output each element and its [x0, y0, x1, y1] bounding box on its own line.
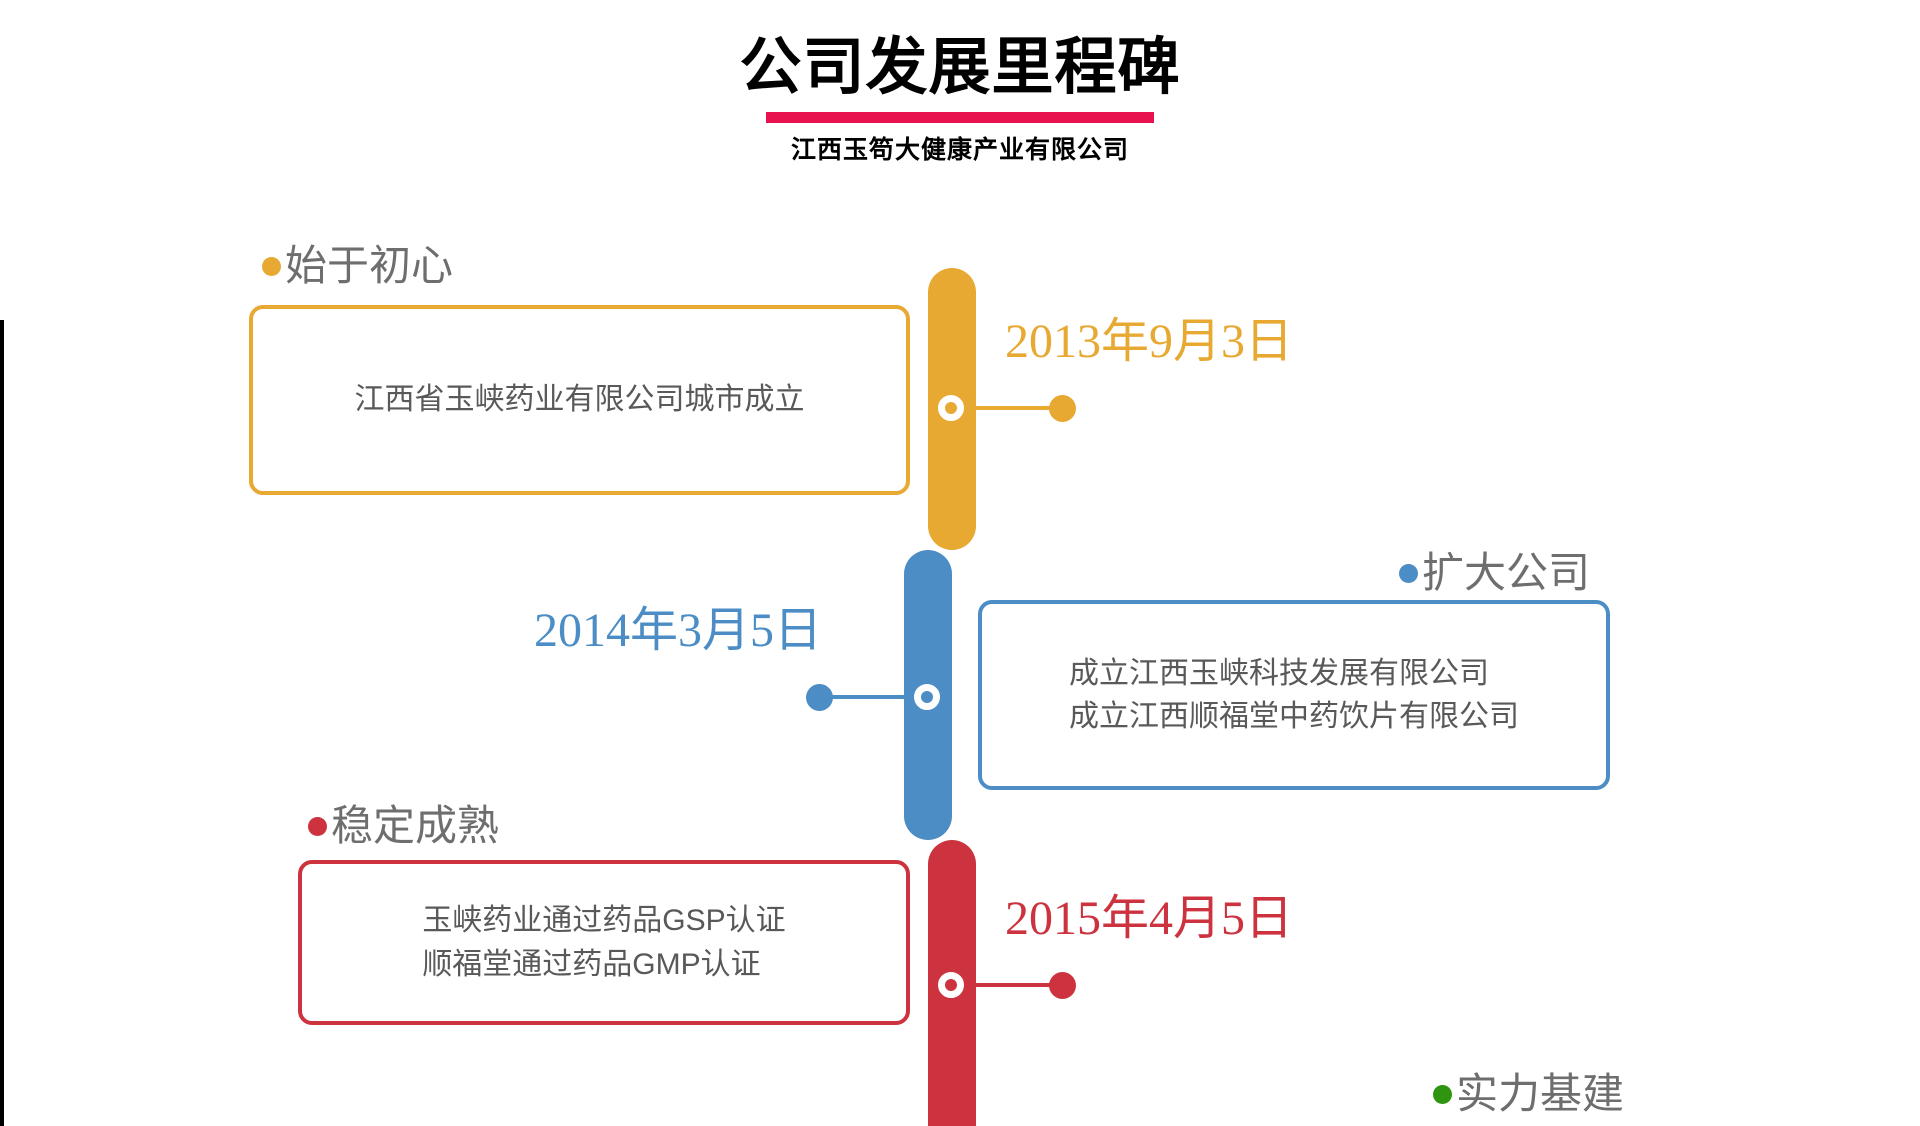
dot-icon: [1399, 564, 1418, 583]
dot-icon: [308, 817, 327, 836]
milestone-heading-label-2: 扩大公司: [1422, 552, 1590, 594]
milestone-card-line: 成立江西玉峡科技发展有限公司: [1069, 652, 1519, 696]
title-underline-rule: [766, 112, 1154, 123]
dot-icon: [1433, 1085, 1452, 1104]
milestone-card-line: 江西省玉峡药业有限公司城市成立: [355, 378, 805, 422]
milestone-ring-marker-2[interactable]: [914, 684, 940, 710]
milestone-end-dot-3: [1049, 972, 1076, 999]
milestone-ring-marker-3[interactable]: [938, 972, 964, 998]
left-edge-rule: [0, 320, 4, 1126]
milestone-end-dot-1: [1049, 395, 1076, 422]
milestone-ring-marker-1[interactable]: [938, 395, 964, 421]
milestone-end-dot-2: [806, 684, 833, 711]
milestone-card-3[interactable]: 玉峡药业通过药品GSP认证 顺福堂通过药品GMP认证: [298, 860, 910, 1025]
dot-icon: [262, 257, 281, 276]
milestone-card-line: 成立江西顺福堂中药饮片有限公司: [1069, 695, 1519, 739]
milestone-card-text-1: 江西省玉峡药业有限公司城市成立: [355, 378, 805, 422]
milestone-heading-label-1: 始于初心: [285, 245, 453, 287]
company-subtitle: 江西玉笱大健康产业有限公司: [0, 130, 1920, 166]
milestone-card-text-3: 玉峡药业通过药品GSP认证 顺福堂通过药品GMP认证: [422, 899, 785, 986]
milestone-card-1[interactable]: 江西省玉峡药业有限公司城市成立: [249, 305, 910, 495]
milestone-card-line: 顺福堂通过药品GMP认证: [422, 943, 785, 987]
milestone-heading-1[interactable]: 始于初心: [262, 245, 453, 287]
milestone-heading-4[interactable]: 实力基建: [1433, 1073, 1624, 1115]
milestone-heading-label-4: 实力基建: [1456, 1073, 1624, 1115]
milestone-heading-3[interactable]: 稳定成熟: [308, 805, 499, 847]
milestone-date-2: 2014年3月5日: [534, 607, 822, 655]
milestone-date-1: 2013年9月3日: [1005, 318, 1293, 366]
milestone-card-line: 玉峡药业通过药品GSP认证: [422, 899, 785, 943]
milestone-date-3: 2015年4月5日: [1005, 895, 1293, 943]
milestone-heading-2[interactable]: 扩大公司: [1399, 552, 1590, 594]
milestone-card-text-2: 成立江西玉峡科技发展有限公司 成立江西顺福堂中药饮片有限公司: [1069, 652, 1519, 739]
page-title: 公司发展里程碑: [0, 0, 1920, 102]
milestone-card-2[interactable]: 成立江西玉峡科技发展有限公司 成立江西顺福堂中药饮片有限公司: [978, 600, 1610, 790]
milestone-heading-label-3: 稳定成熟: [331, 805, 499, 847]
header: 公司发展里程碑 江西玉笱大健康产业有限公司: [0, 0, 1920, 166]
